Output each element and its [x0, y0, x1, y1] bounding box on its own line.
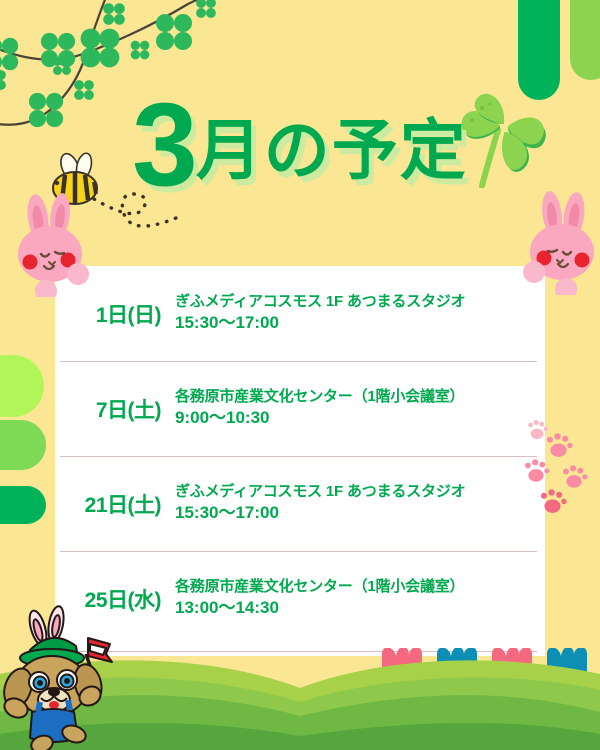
row-place: ぎふメディアコスモス 1F あつまるスタジオ [175, 482, 545, 502]
row-date: 1日(日) [55, 299, 175, 329]
schedule-list: 1日(日) ぎふメディアコスモス 1F あつまるスタジオ 15:30〜17:00… [55, 266, 545, 656]
rabbit-icon [8, 192, 104, 297]
poster-root: 3月の予定 1日(日) ぎふメディアコス [0, 0, 600, 750]
row-info: ぎふメディアコスモス 1F あつまるスタジオ 15:30〜17:00 [175, 482, 545, 525]
row-date: 21日(土) [55, 489, 175, 519]
table-row[interactable]: 1日(日) ぎふメディアコスモス 1F あつまるスタジオ 15:30〜17:00 [55, 266, 545, 361]
row-time: 15:30〜17:00 [175, 502, 545, 525]
row-place: ぎふメディアコスモス 1F あつまるスタジオ [175, 292, 545, 312]
green-bar-left-dark [0, 486, 46, 524]
row-divider [60, 551, 537, 552]
rabbit-icon [508, 190, 600, 295]
green-bar-left-mid [0, 420, 46, 470]
row-time: 13:00〜14:30 [175, 597, 545, 620]
dog-mascot-icon [2, 604, 122, 750]
row-place: 各務原市産業文化センター（1階小会議室） [175, 577, 545, 597]
row-place: 各務原市産業文化センター（1階小会議室） [175, 387, 545, 407]
row-info: 各務原市産業文化センター（1階小会議室） 13:00〜14:30 [175, 577, 545, 620]
row-time: 9:00〜10:30 [175, 407, 545, 430]
row-divider [60, 361, 537, 362]
green-bar-top-right-light [570, 0, 600, 80]
row-info: 各務原市産業文化センター（1階小会議室） 9:00〜10:30 [175, 387, 545, 430]
green-bar-left-lime [0, 355, 44, 417]
table-row[interactable]: 21日(土) ぎふメディアコスモス 1F あつまるスタジオ 15:30〜17:0… [55, 456, 545, 551]
row-divider [60, 456, 537, 457]
row-info: ぎふメディアコスモス 1F あつまるスタジオ 15:30〜17:00 [175, 292, 545, 335]
row-date: 7日(土) [55, 394, 175, 424]
title-text: 月の予定 [196, 113, 468, 187]
row-time: 15:30〜17:00 [175, 312, 545, 335]
table-row[interactable]: 7日(土) 各務原市産業文化センター（1階小会議室） 9:00〜10:30 [55, 361, 545, 456]
paw-print-icon [525, 415, 600, 520]
